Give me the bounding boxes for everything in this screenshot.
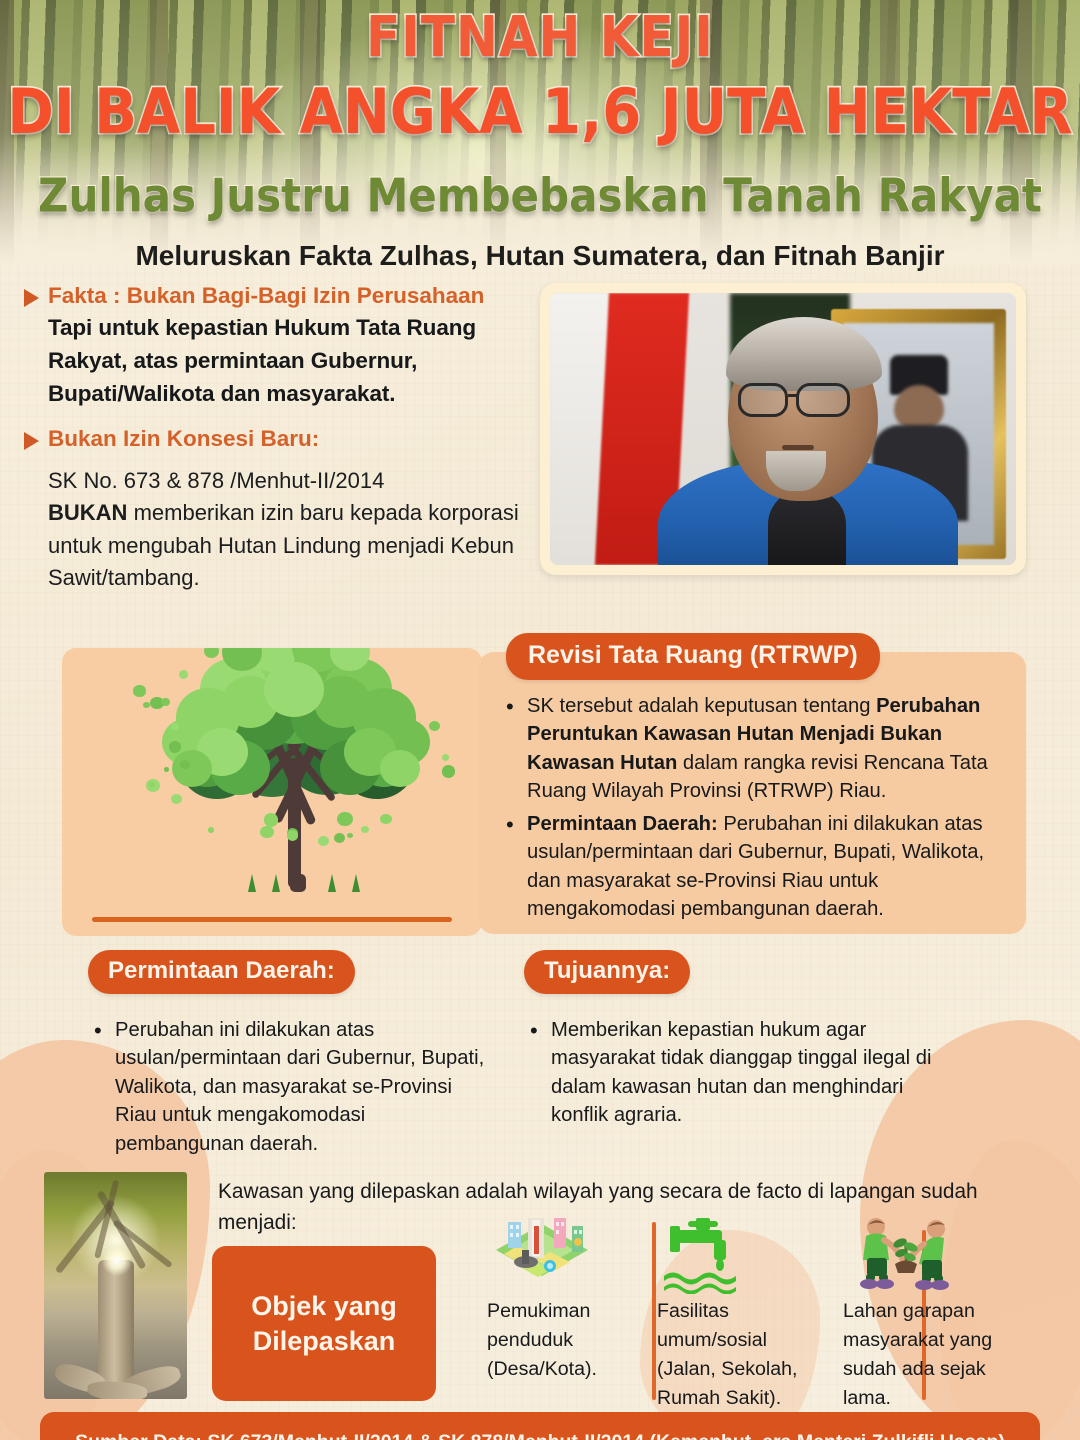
tree-illustration-panel xyxy=(62,648,482,936)
rtrwp-panel: Revisi Tata Ruang (RTRWP) SK tersebut ad… xyxy=(478,652,1026,934)
tree-foliage-blob xyxy=(334,833,345,843)
tree-foliage-blob xyxy=(179,670,188,678)
feature-2-label: Fasilitas umum/sosial (Jalan, Sekolah, R… xyxy=(657,1297,812,1413)
source-footer-bar: Sumber Data: SK 673/Menhut-II/2014 & SK … xyxy=(40,1412,1040,1440)
portrait-mouth xyxy=(782,445,814,450)
rtrwp-bullet-list: SK tersebut adalah keputusan tentang Per… xyxy=(500,692,1004,928)
feature-divider-1 xyxy=(652,1222,656,1400)
triangle-bullet-icon xyxy=(24,289,39,307)
subtitle-dark: Meluruskan Fakta Zulhas, Hutan Sumatera,… xyxy=(0,240,1080,272)
tujuan-column: Tujuannya: Memberikan kepastian hukum ag… xyxy=(524,950,964,1134)
tree-foliage-blob xyxy=(133,685,145,696)
facts-block: Fakta : Bukan Bagi-Bagi Izin Perusahaan … xyxy=(24,282,524,595)
tree-grass-tuft xyxy=(328,874,336,892)
tree-foliage-blob xyxy=(180,760,189,769)
objek-dilepaskan-box: Objek yang Dilepaskan xyxy=(212,1246,436,1401)
permintaan-pill-label: Permintaan Daerah: xyxy=(88,950,355,994)
fact-1-body: Tapi untuk kepastian Hukum Tata Ruang Ra… xyxy=(48,312,524,411)
permintaan-bullet-list: Perubahan ini dilakukan atas usulan/perm… xyxy=(88,1016,488,1158)
tree-grass-tuft xyxy=(248,874,256,892)
rtrwp-pill-label: Revisi Tata Ruang (RTRWP) xyxy=(506,633,880,680)
tree-foliage-blob xyxy=(204,648,219,658)
tree-foliage-blob xyxy=(164,767,169,772)
tree-foliage-blob xyxy=(208,827,214,833)
portrait-glasses-right xyxy=(796,383,850,417)
tujuan-bullet-list: Memberikan kepastian hukum agar masyarak… xyxy=(524,1016,964,1130)
feature-3-label: Lahan garapan masyarakat yang sudah ada … xyxy=(843,1297,1008,1413)
subtitle-green: Zulhas Justru Membebaskan Tanah Rakyat xyxy=(0,169,1080,223)
header-title-group: FITNAH KEJI DI BALIK ANGKA 1,6 JUTA HEKT… xyxy=(0,0,1080,272)
rtrwp-bullet-2: Permintaan Daerah: Perubahan ini dilakuk… xyxy=(500,810,1004,924)
tree-foliage-blob xyxy=(172,750,212,787)
fact-2-heading-row: Bukan Izin Konsesi Baru: xyxy=(24,425,524,453)
feature-2: Fasilitas umum/sosial (Jalan, Sekolah, R… xyxy=(657,1297,812,1413)
tree-foliage-blob xyxy=(260,826,274,839)
portrait-glasses-left xyxy=(738,383,788,417)
tree-foliage-blob xyxy=(429,721,440,731)
rtrwp-b1-pre: SK tersebut adalah keputusan tentang xyxy=(527,695,876,717)
fact-2-paragraph: BUKAN memberikan izin baru kepada korpor… xyxy=(48,497,524,595)
rtrwp-b2-bold: Permintaan Daerah: xyxy=(527,813,718,835)
tree-grass-tuft xyxy=(352,874,360,892)
city-map-icon xyxy=(488,1216,596,1294)
tree-foliage-blob xyxy=(264,662,324,717)
water-tap-icon xyxy=(660,1218,752,1294)
objek-dilepaskan-label: Objek yang Dilepaskan xyxy=(212,1289,436,1358)
tree-branch xyxy=(290,874,306,892)
portrait-glasses-bridge xyxy=(788,394,798,397)
tree-foliage-blob xyxy=(161,698,170,706)
feature-1-label: Pemukiman penduduk (Desa/Kota). xyxy=(487,1297,632,1384)
permintaan-daerah-column: Permintaan Daerah: Perubahan ini dilakuk… xyxy=(88,950,488,1162)
tree-foliage-blob xyxy=(264,813,279,827)
tree-foliage-blob xyxy=(149,782,155,788)
tujuan-bullet-1: Memberikan kepastian hukum agar masyarak… xyxy=(524,1016,964,1130)
portrait-photo-frame xyxy=(540,283,1026,575)
photo-sunburst xyxy=(102,1246,132,1276)
feature-3: Lahan garapan masyarakat yang sudah ada … xyxy=(843,1297,1008,1413)
tree-foliage-blob xyxy=(318,836,329,846)
tree-foliage-blob xyxy=(380,814,391,824)
fact-2-line-1: SK No. 673 & 878 /Menhut-II/2014 xyxy=(48,465,524,498)
tree-foliage-blob xyxy=(347,833,353,839)
title-line-2: DI BALIK ANGKA 1,6 JUTA HEKTAR xyxy=(0,76,1080,149)
people-planting-icon xyxy=(848,1216,966,1294)
fact-1-heading: Fakta : Bukan Bagi-Bagi Izin Perusahaan xyxy=(48,282,484,310)
tree-foliage-blob xyxy=(143,702,150,709)
tree-illustration xyxy=(122,648,462,932)
tree-foliage-blob xyxy=(442,765,456,778)
tree-foliage-blob xyxy=(171,794,182,804)
fact-2-heading: Bukan Izin Konsesi Baru: xyxy=(48,425,319,453)
tree-grass-tuft xyxy=(272,874,280,892)
triangle-bullet-icon-2 xyxy=(24,432,39,450)
tree-foliage-blob xyxy=(361,826,369,834)
tree-foliage-blob xyxy=(337,812,352,826)
tree-foliage-blob xyxy=(380,750,420,787)
fact-2-bold-word: BUKAN xyxy=(48,500,127,525)
tujuan-pill-label: Tujuannya: xyxy=(524,950,690,994)
banyan-tree-photo xyxy=(44,1172,187,1399)
title-line-1: FITNAH KEJI xyxy=(0,5,1080,70)
feature-1: Pemukiman penduduk (Desa/Kota). xyxy=(487,1297,632,1384)
permintaan-bullet-1: Perubahan ini dilakukan atas usulan/perm… xyxy=(88,1016,488,1158)
tree-foliage-blob xyxy=(171,723,178,730)
portrait-dark-shirt xyxy=(768,491,846,565)
portrait-photo xyxy=(550,293,1016,565)
fact-1-heading-row: Fakta : Bukan Bagi-Bagi Izin Perusahaan xyxy=(24,282,524,310)
source-footer-text: Sumber Data: SK 673/Menhut-II/2014 & SK … xyxy=(75,1431,1005,1440)
tree-foliage-blob xyxy=(442,754,449,760)
rtrwp-bullet-1: SK tersebut adalah keputusan tentang Per… xyxy=(500,692,1004,806)
